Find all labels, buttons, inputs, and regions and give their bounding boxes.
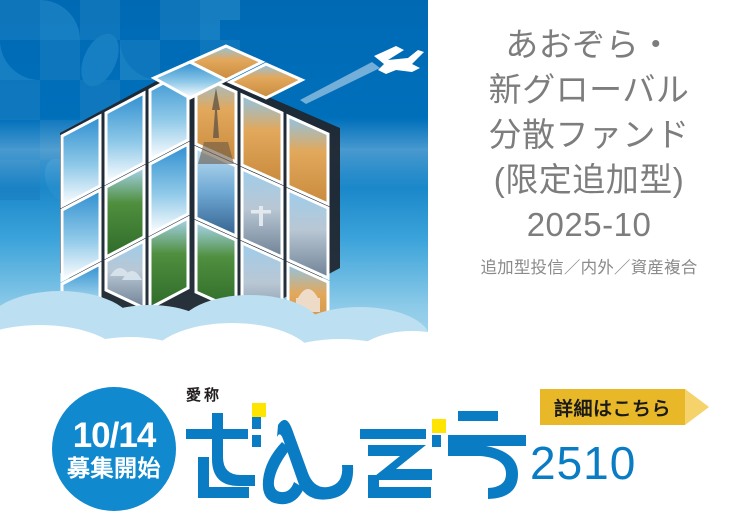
fund-category-subtitle: 追加型投信／内外／資産複合 (480, 257, 697, 279)
badge-label: 募集開始 (67, 455, 161, 481)
brand-band: 10/14 募集開始 愛称 (0, 385, 750, 520)
title-line-5: 2025-10 (434, 202, 744, 247)
title-line-1: あおぞら・ (434, 22, 744, 67)
accent-square-2 (432, 419, 446, 433)
accent-square-1 (252, 403, 266, 417)
series-number: 2510 (530, 440, 636, 486)
nickname-label: 愛称 (186, 384, 222, 405)
title-line-4: (限定追加型) (434, 157, 744, 202)
product-text-panel: あおぞら・ 新グローバル 分散ファンド (限定追加型) 2025-10 追加型投… (428, 0, 750, 385)
nickname-wordmark (182, 403, 532, 507)
arrow-right-icon (685, 389, 709, 425)
title-line-2: 新グローバル (434, 67, 744, 112)
details-button-label: 詳細はこちら (554, 394, 671, 421)
cloud-shapes (0, 257, 428, 385)
page-title: あおぞら・ 新グローバル 分散ファンド (限定追加型) 2025-10 (434, 22, 744, 247)
fund-promo-banner: あおぞら・ 新グローバル 分散ファンド (限定追加型) 2025-10 追加型投… (0, 0, 750, 520)
badge-date: 10/14 (73, 418, 156, 454)
title-line-3: 分散ファンド (434, 112, 744, 157)
details-button[interactable]: 詳細はこちら (540, 389, 709, 425)
illustration-panel (0, 0, 428, 385)
details-button-body[interactable]: 詳細はこちら (540, 389, 685, 425)
offering-start-badge: 10/14 募集開始 (52, 387, 176, 511)
